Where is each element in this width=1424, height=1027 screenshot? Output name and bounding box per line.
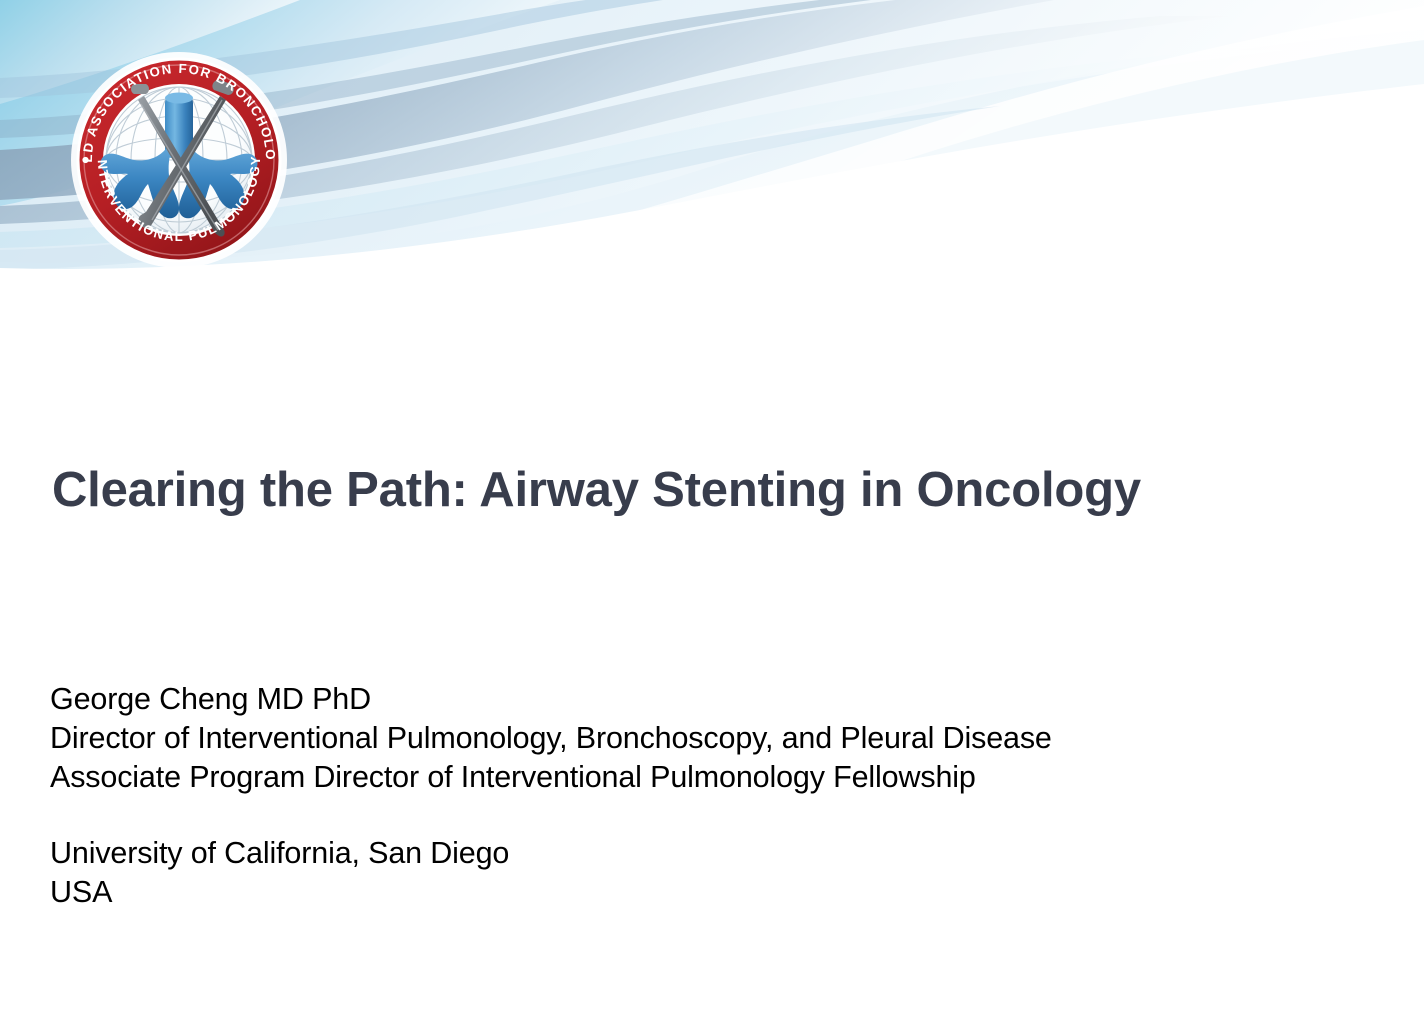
presenter-name: George Cheng MD PhD <box>50 680 1380 719</box>
presenter-role-2: Associate Program Director of Interventi… <box>50 758 1380 797</box>
wabip-logo: WORLD ASSOCIATION FOR BRONCHOLOGY & INTE… <box>68 34 290 286</box>
page-title: Clearing the Path: Airway Stenting in On… <box>52 463 1372 518</box>
presentation-slide: WORLD ASSOCIATION FOR BRONCHOLOGY & INTE… <box>0 0 1424 1027</box>
presenter-spacer <box>50 797 1380 834</box>
wave-highlight-sweep <box>300 0 1424 300</box>
presenter-block: George Cheng MD PhD Director of Interven… <box>50 680 1380 912</box>
presenter-institution: University of California, San Diego <box>50 834 1380 873</box>
wave-white-base <box>0 300 1424 460</box>
presenter-country: USA <box>50 873 1380 912</box>
presenter-role-1: Director of Interventional Pulmonology, … <box>50 719 1380 758</box>
wave-band-right-fade <box>300 40 1424 306</box>
logo-ring-separator-dot <box>82 157 88 163</box>
